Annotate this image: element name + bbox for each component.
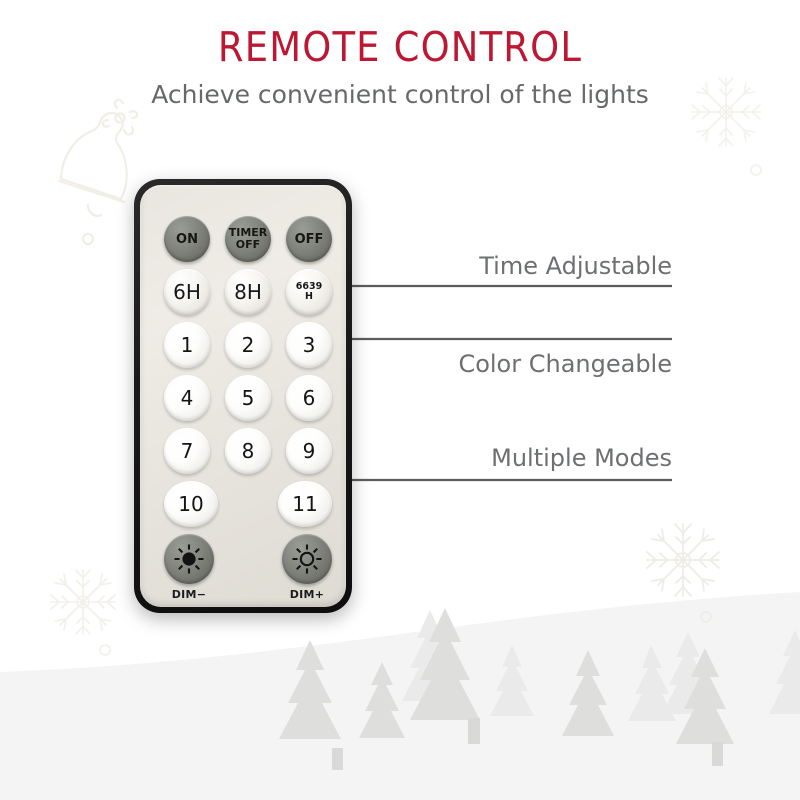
callout-time-adjustable: Time Adjustable (479, 252, 672, 280)
callout-multiple-modes: Multiple Modes (491, 444, 672, 472)
number-8-button[interactable]: 8 (225, 428, 271, 474)
number-6-button[interactable]: 6 (286, 375, 332, 421)
timer-6h-button[interactable]: 6H (164, 269, 210, 315)
snowflake-icon-right-middle (647, 524, 719, 622)
remote-control-device: ON TIMER OFF OFF 6H 8H 6639 H 1 (134, 179, 352, 613)
dim-up-button[interactable] (282, 534, 332, 584)
background-decoration-layer (0, 0, 800, 800)
number-1-button[interactable]: 1 (164, 322, 210, 368)
callout-leader-lines (0, 0, 800, 800)
timer-8h-button[interactable]: 8H (225, 269, 271, 315)
number-5-button[interactable]: 5 (225, 375, 271, 421)
dim-down-button[interactable] (164, 534, 214, 584)
snowflake-icon-left-bottom (51, 570, 115, 655)
number-11-button[interactable]: 11 (278, 481, 332, 527)
callout-color-changeable: Color Changeable (458, 350, 672, 378)
header-block: REMOTE CONTROL Achieve convenient contro… (0, 22, 800, 112)
on-button[interactable]: ON (164, 216, 210, 262)
timer-off-button[interactable]: TIMER OFF (225, 216, 271, 262)
number-4-button[interactable]: 4 (164, 375, 210, 421)
sun-hollow-icon (290, 542, 324, 576)
bell-icon-top-left (59, 100, 137, 244)
pine-tree-trunks (332, 718, 723, 770)
page-subtitle: Achieve convenient control of the lights (0, 78, 800, 112)
number-3-button[interactable]: 3 (286, 322, 332, 368)
pine-tree-cluster-back (402, 610, 800, 721)
dim-up-caption: DIM+ (276, 588, 338, 601)
sun-filled-icon (172, 542, 206, 576)
pine-tree-cluster-front (279, 608, 734, 744)
poster-canvas: REMOTE CONTROL Achieve convenient contro… (0, 0, 800, 800)
number-9-button[interactable]: 9 (286, 428, 332, 474)
remote-faceplate: ON TIMER OFF OFF 6H 8H 6639 H 1 (140, 185, 346, 607)
timer-6639h-button[interactable]: 6639 H (286, 269, 332, 315)
snow-hill-shape (0, 592, 800, 800)
page-title: REMOTE CONTROL (0, 22, 800, 72)
number-10-button[interactable]: 10 (164, 481, 218, 527)
dim-down-caption: DIM− (158, 588, 220, 601)
number-7-button[interactable]: 7 (164, 428, 210, 474)
off-button[interactable]: OFF (286, 216, 332, 262)
number-2-button[interactable]: 2 (225, 322, 271, 368)
